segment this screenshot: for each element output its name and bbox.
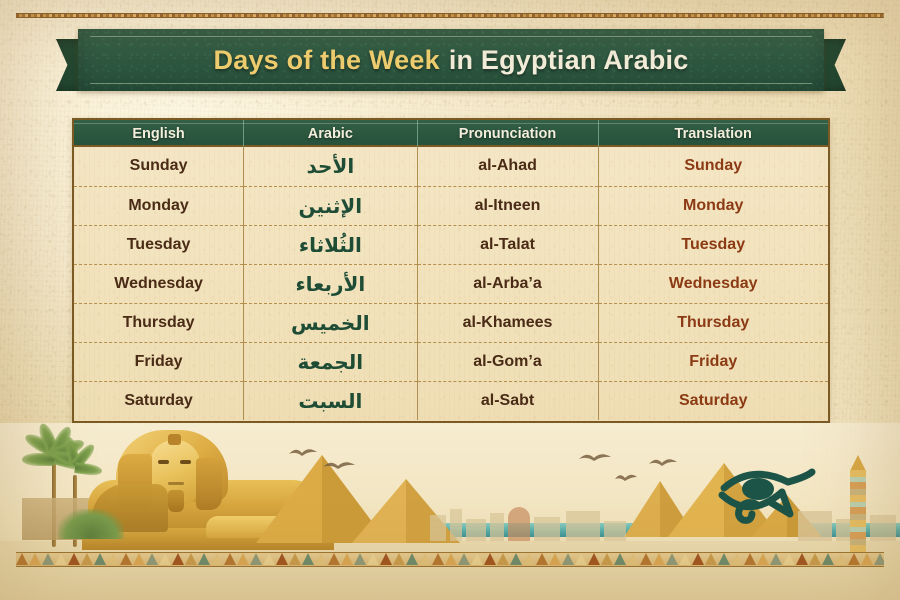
day-cell-english: Friday bbox=[74, 342, 244, 381]
day-cell-translation: Monday bbox=[598, 186, 828, 225]
zigzag-triangle bbox=[601, 553, 613, 565]
day-cell-translation: Thursday bbox=[598, 303, 828, 342]
zigzag-triangle bbox=[328, 553, 340, 565]
zigzag-triangle bbox=[653, 553, 665, 565]
sphinx-mouth bbox=[168, 482, 184, 485]
zigzag-triangle bbox=[107, 553, 119, 565]
city-skyline-illustration bbox=[534, 517, 560, 541]
zigzag-triangle bbox=[627, 553, 639, 565]
bird-illustration bbox=[648, 455, 678, 469]
zigzag-triangle bbox=[770, 553, 782, 565]
sphinx-uraeus bbox=[168, 434, 181, 445]
zigzag-triangle bbox=[94, 553, 106, 565]
zigzag-triangles bbox=[16, 554, 884, 565]
column-header-arabic: Arabic bbox=[244, 120, 417, 147]
days-table: English Arabic Pronunciation Translation… bbox=[74, 120, 828, 420]
city-skyline-illustration bbox=[450, 509, 462, 541]
day-cell-arabic: الإثنين bbox=[244, 186, 417, 225]
day-cell-pronunciation: al-Ahad bbox=[417, 147, 598, 186]
day-cell-pronunciation: al-Talat bbox=[417, 225, 598, 264]
zigzag-triangle bbox=[302, 553, 314, 565]
table-row: Mondayالإثنينal-ItneenMonday bbox=[74, 186, 828, 225]
zigzag-triangle bbox=[133, 553, 145, 565]
day-cell-english: Saturday bbox=[74, 381, 244, 420]
column-header-english: English bbox=[74, 120, 244, 147]
zigzag-triangle bbox=[484, 553, 496, 565]
zigzag-triangle bbox=[250, 553, 262, 565]
sphinx-eye-left bbox=[158, 460, 169, 464]
zigzag-triangle bbox=[549, 553, 561, 565]
table-row: Thursdayالخميسal-KhameesThursday bbox=[74, 303, 828, 342]
zigzag-triangle bbox=[536, 553, 548, 565]
table-head: English Arabic Pronunciation Translation bbox=[74, 120, 828, 147]
zigzag-triangle bbox=[354, 553, 366, 565]
zigzag-triangle bbox=[744, 553, 756, 565]
zigzag-triangle bbox=[263, 553, 275, 565]
days-table-container: English Arabic Pronunciation Translation… bbox=[72, 118, 830, 423]
zigzag-triangle bbox=[159, 553, 171, 565]
zigzag-triangle bbox=[16, 553, 28, 565]
zigzag-triangle bbox=[705, 553, 717, 565]
zigzag-triangle bbox=[757, 553, 769, 565]
zigzag-triangle bbox=[731, 553, 743, 565]
zigzag-triangle bbox=[276, 553, 288, 565]
zigzag-triangle bbox=[224, 553, 236, 565]
zigzag-triangle bbox=[497, 553, 509, 565]
zigzag-triangle bbox=[211, 553, 223, 565]
poster-canvas: Days of the Week in Egyptian Arabic Engl… bbox=[0, 0, 900, 600]
day-cell-pronunciation: al-Arba’a bbox=[417, 264, 598, 303]
zigzag-triangle bbox=[861, 553, 873, 565]
zigzag-triangle bbox=[640, 553, 652, 565]
table-row: Wednesdayالأربعاءal-Arba’aWednesday bbox=[74, 264, 828, 303]
page-title: Days of the Week in Egyptian Arabic bbox=[78, 29, 824, 91]
zigzag-triangle bbox=[393, 553, 405, 565]
bird-illustration bbox=[288, 445, 318, 459]
shrub-illustration bbox=[58, 509, 124, 539]
zigzag-triangle bbox=[809, 553, 821, 565]
zigzag-triangle bbox=[835, 553, 847, 565]
zigzag-triangle bbox=[796, 553, 808, 565]
zigzag-triangle bbox=[380, 553, 392, 565]
zigzag-triangle bbox=[679, 553, 691, 565]
zigzag-triangle bbox=[406, 553, 418, 565]
obelisk-illustration bbox=[845, 455, 871, 553]
day-cell-english: Wednesday bbox=[74, 264, 244, 303]
zigzag-triangle bbox=[198, 553, 210, 565]
day-cell-arabic: الثُلاثاء bbox=[244, 225, 417, 264]
day-cell-arabic: الجمعة bbox=[244, 342, 417, 381]
zigzag-triangle bbox=[874, 553, 884, 565]
zigzag-triangle bbox=[185, 553, 197, 565]
zigzag-triangle bbox=[289, 553, 301, 565]
city-skyline-illustration bbox=[604, 521, 626, 541]
zigzag-triangle bbox=[848, 553, 860, 565]
city-skyline-illustration bbox=[566, 511, 600, 541]
day-cell-english: Thursday bbox=[74, 303, 244, 342]
zigzag-triangle bbox=[471, 553, 483, 565]
zigzag-triangle bbox=[172, 553, 184, 565]
day-cell-arabic: الخميس bbox=[244, 303, 417, 342]
day-cell-pronunciation: al-Sabt bbox=[417, 381, 598, 420]
zigzag-triangle bbox=[81, 553, 93, 565]
table-row: Saturdayالسبتal-SabtSaturday bbox=[74, 381, 828, 420]
sphinx-beard bbox=[168, 490, 184, 512]
zigzag-triangle bbox=[315, 553, 327, 565]
city-dome-illustration bbox=[508, 507, 530, 541]
zigzag-triangle bbox=[510, 553, 522, 565]
table-row: Fridayالجمعةal-Gom’aFriday bbox=[74, 342, 828, 381]
zigzag-triangle bbox=[575, 553, 587, 565]
day-cell-pronunciation: al-Gom’a bbox=[417, 342, 598, 381]
zigzag-triangle bbox=[783, 553, 795, 565]
zigzag-triangle bbox=[29, 553, 41, 565]
bird-illustration bbox=[614, 471, 638, 483]
eye-of-horus-icon bbox=[712, 458, 820, 530]
day-cell-translation: Saturday bbox=[598, 381, 828, 420]
zigzag-triangle bbox=[68, 553, 80, 565]
day-cell-pronunciation: al-Itneen bbox=[417, 186, 598, 225]
day-cell-arabic: الأربعاء bbox=[244, 264, 417, 303]
day-cell-translation: Friday bbox=[598, 342, 828, 381]
zigzag-triangle bbox=[120, 553, 132, 565]
city-skyline-illustration bbox=[466, 519, 486, 541]
table-row: Sundayالأحدal-AhadSunday bbox=[74, 147, 828, 186]
zigzag-triangle bbox=[42, 553, 54, 565]
zigzag-triangle bbox=[432, 553, 444, 565]
zigzag-triangle bbox=[822, 553, 834, 565]
day-cell-pronunciation: al-Khamees bbox=[417, 303, 598, 342]
day-cell-english: Monday bbox=[74, 186, 244, 225]
table-row: Tuesdayالثُلاثاءal-TalatTuesday bbox=[74, 225, 828, 264]
day-cell-translation: Sunday bbox=[598, 147, 828, 186]
day-cell-arabic: السبت bbox=[244, 381, 417, 420]
zigzag-triangle bbox=[458, 553, 470, 565]
egypt-illustration bbox=[0, 423, 900, 600]
sphinx-lappet-right bbox=[196, 458, 222, 510]
zigzag-triangle bbox=[523, 553, 535, 565]
column-header-translation: Translation bbox=[598, 120, 828, 147]
zigzag-triangle bbox=[614, 553, 626, 565]
ribbon-body: Days of the Week in Egyptian Arabic bbox=[78, 29, 824, 91]
zigzag-triangle bbox=[588, 553, 600, 565]
day-cell-translation: Tuesday bbox=[598, 225, 828, 264]
zigzag-triangle bbox=[341, 553, 353, 565]
zigzag-triangle bbox=[419, 553, 431, 565]
zigzag-triangle bbox=[445, 553, 457, 565]
page-title-main: Days of the Week bbox=[214, 45, 440, 76]
column-header-pronunciation: Pronunciation bbox=[417, 120, 598, 147]
page-title-sub: in Egyptian Arabic bbox=[449, 45, 689, 76]
table-body: Sundayالأحدal-AhadSundayMondayالإثنينal-… bbox=[74, 147, 828, 420]
zigzag-triangle bbox=[718, 553, 730, 565]
bird-illustration bbox=[578, 449, 612, 464]
zigzag-triangle bbox=[692, 553, 704, 565]
zigzag-triangle bbox=[367, 553, 379, 565]
zigzag-triangle bbox=[237, 553, 249, 565]
sphinx-eye-right bbox=[180, 460, 191, 464]
temple-illustration bbox=[870, 515, 896, 541]
zigzag-triangle bbox=[55, 553, 67, 565]
zigzag-triangle bbox=[666, 553, 678, 565]
city-skyline-illustration bbox=[430, 515, 446, 541]
zigzag-triangle bbox=[146, 553, 158, 565]
zigzag-triangle bbox=[562, 553, 574, 565]
zigzag-border-pattern bbox=[16, 552, 884, 567]
city-skyline-illustration bbox=[490, 513, 504, 541]
bird-illustration bbox=[322, 457, 356, 472]
top-border-band bbox=[16, 13, 884, 18]
day-cell-english: Sunday bbox=[74, 147, 244, 186]
banner-ribbon: Days of the Week in Egyptian Arabic bbox=[56, 29, 846, 91]
day-cell-translation: Wednesday bbox=[598, 264, 828, 303]
day-cell-english: Tuesday bbox=[74, 225, 244, 264]
table-header-row: English Arabic Pronunciation Translation bbox=[74, 120, 828, 147]
day-cell-arabic: الأحد bbox=[244, 147, 417, 186]
